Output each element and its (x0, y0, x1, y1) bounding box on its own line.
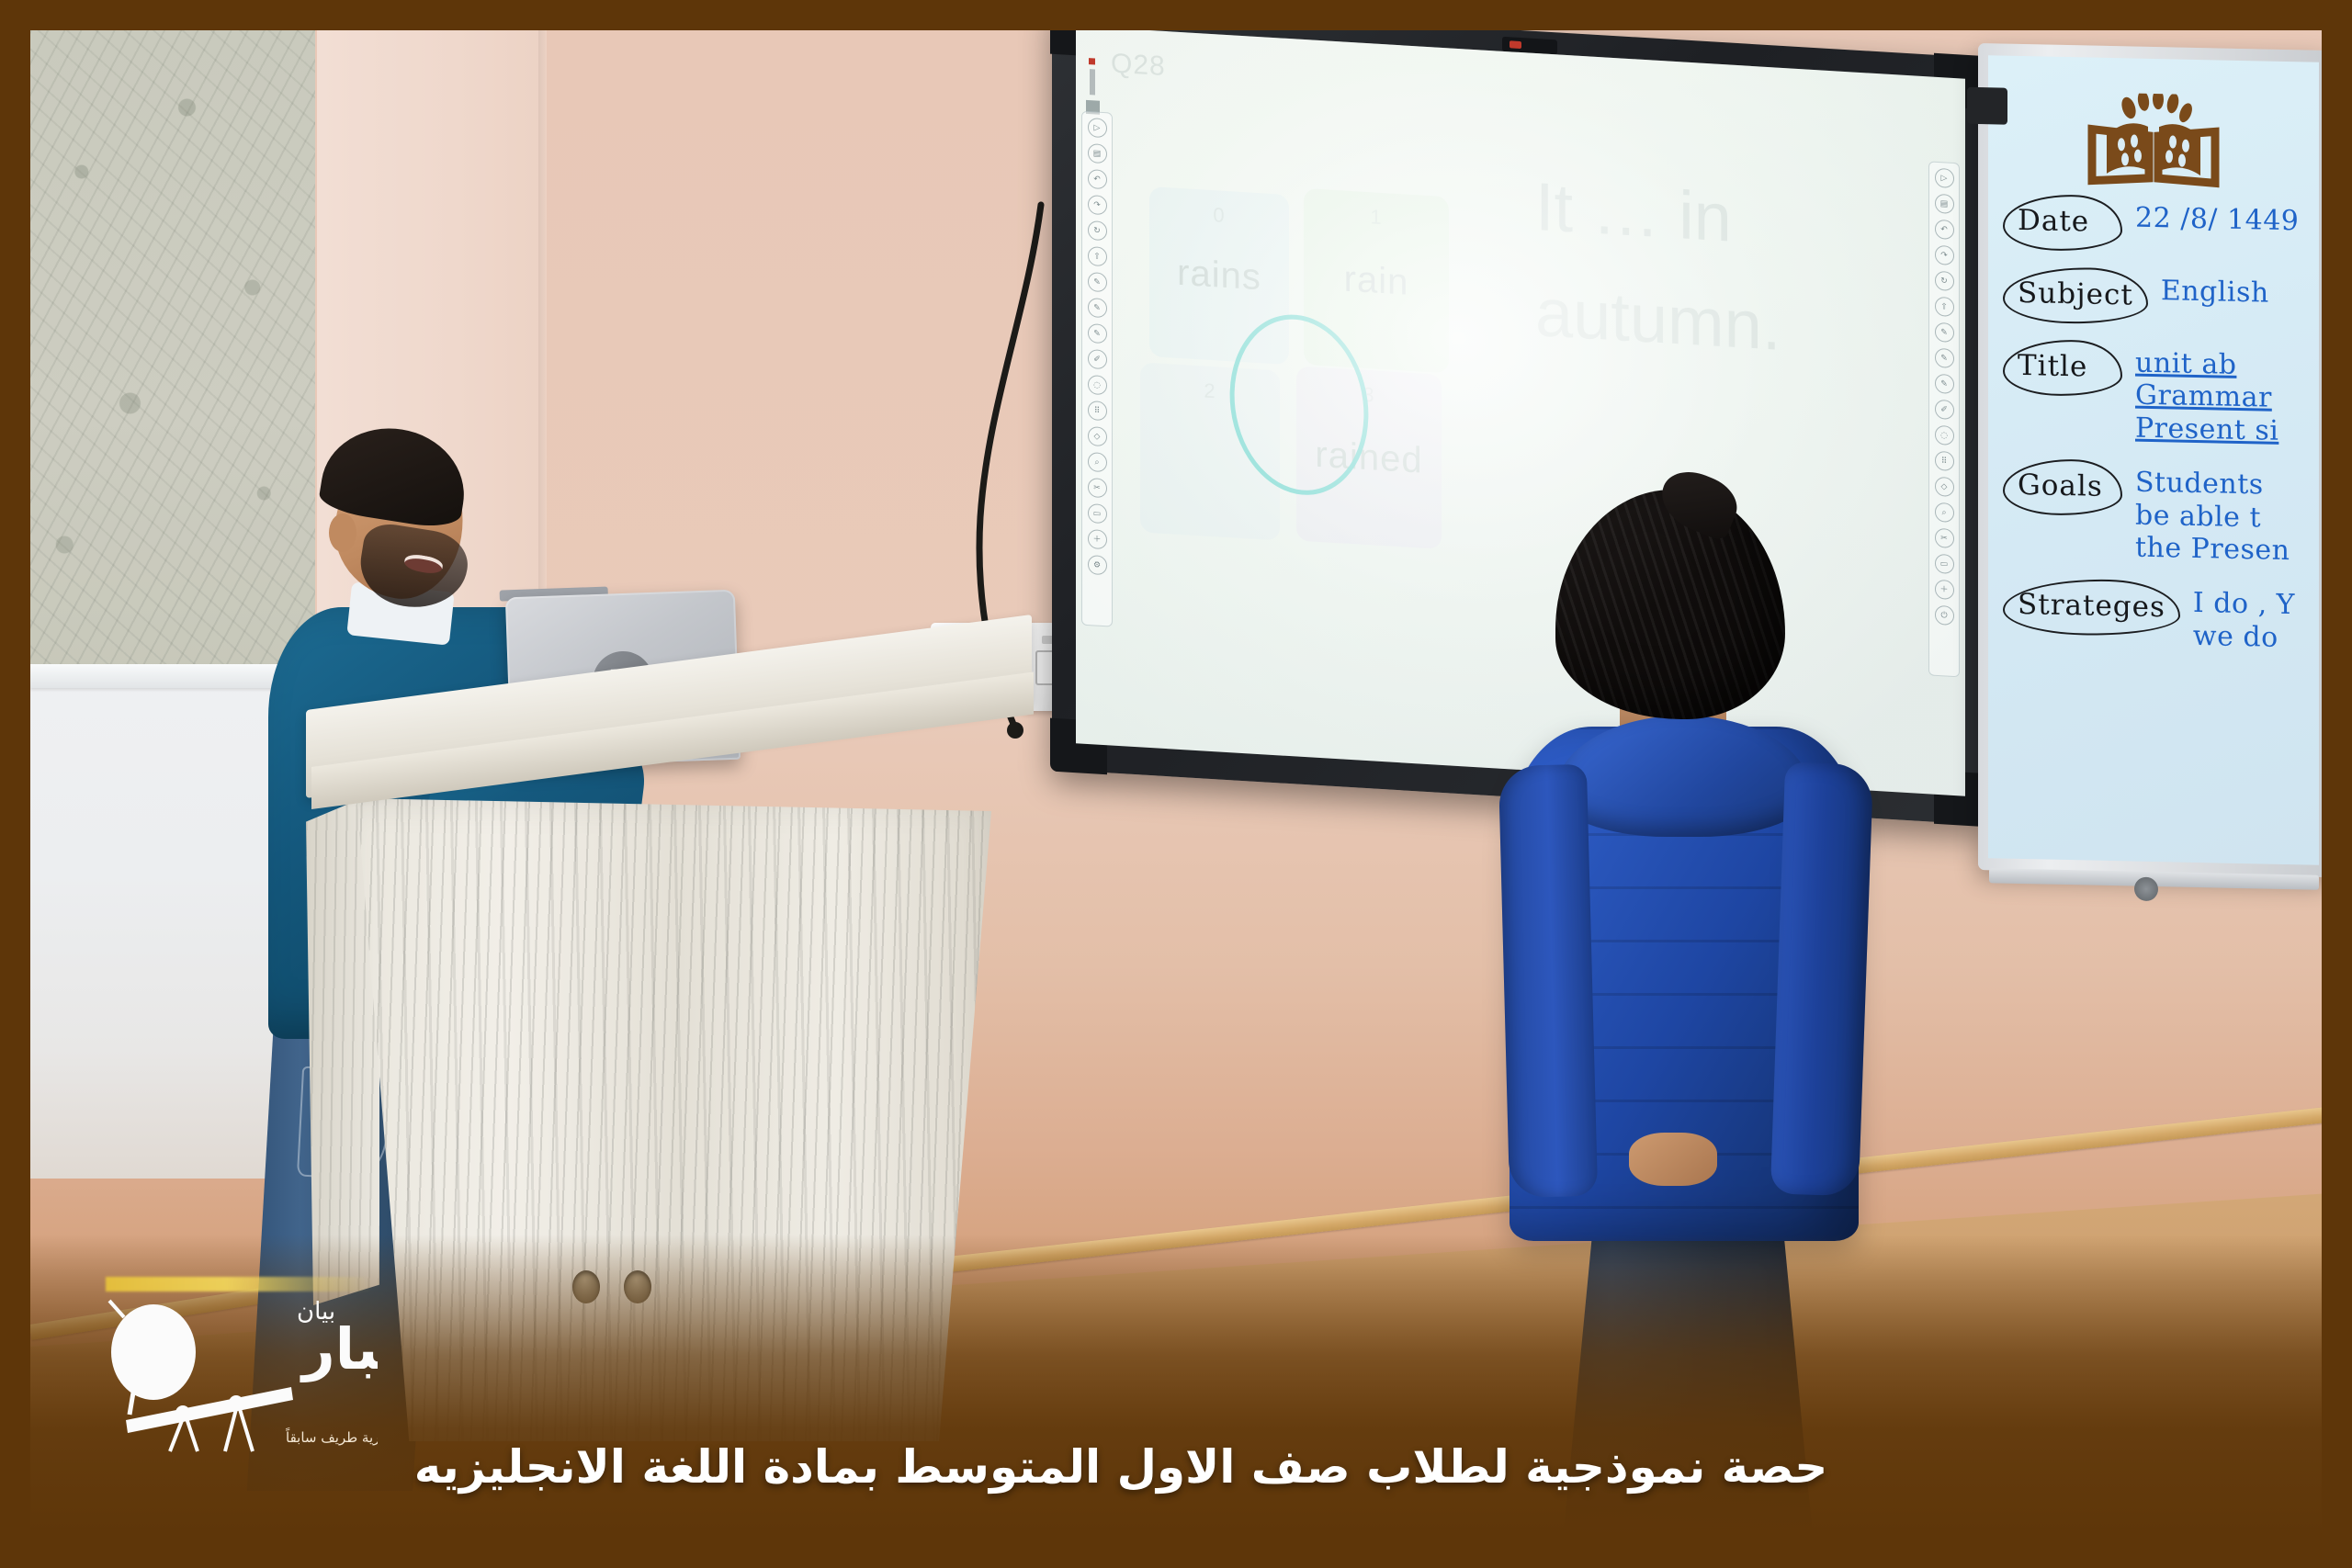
cut-icon[interactable]: ✂ (1088, 478, 1107, 498)
highlighter-icon[interactable]: ✐ (1088, 349, 1107, 369)
pen-thin-icon[interactable]: ✎ (1935, 348, 1954, 368)
whiteboard-clip (1967, 87, 2007, 125)
reload-icon[interactable]: ↻ (1935, 271, 1954, 291)
lesson-plan-value: I do , Y we do (2193, 581, 2295, 654)
lesson-plan-label: Goals (2003, 458, 2122, 517)
photo-frame: Q28 0 rains 1 rain 2 3 rained It … in au… (0, 0, 2352, 1568)
exercise-sentence: It … in autumn. (1535, 154, 1965, 390)
student-hands (1629, 1133, 1717, 1186)
zoom-icon[interactable]: ⌕ (1935, 502, 1954, 523)
podium-front-panel (337, 798, 991, 1441)
lesson-plan-row: Goals Students be able t the Presen (2003, 458, 2313, 568)
podium-cable-holes (572, 1270, 675, 1307)
lesson-plan-value: English (2161, 269, 2269, 310)
settings-icon[interactable]: ⚙ (1088, 555, 1107, 575)
lesson-plan-label: Strateges (2003, 578, 2180, 637)
eraser-icon[interactable]: ◌ (1935, 425, 1954, 446)
highlighter-icon[interactable]: ✐ (1935, 400, 1954, 420)
classroom-whiteboard: Date 22 /8/ 1449 Subject English Title u… (1978, 43, 2322, 877)
cut-icon[interactable]: ✂ (1935, 528, 1954, 548)
smartboard-toolbar-right[interactable]: ▷ ▤ ↶ ↷ ↻ ⇧ ✎ ✎ ✎ ✐ ◌ ⠿ ◇ ⌕ ✂ ▭ ＋ ⏻ (1928, 161, 1960, 677)
power-icon[interactable]: ⏻ (1935, 605, 1954, 626)
channel-logo: بيان الأخبار إخبارية طريف سابقاً (102, 1280, 378, 1455)
screen-edge-markers (1083, 58, 1111, 116)
student (1510, 490, 1859, 1463)
question-number: Q28 (1111, 49, 1166, 84)
student-hair (1555, 490, 1785, 719)
shapes-icon[interactable]: ◇ (1088, 426, 1107, 446)
add-icon[interactable]: ＋ (1935, 580, 1954, 600)
lesson-plan-row: Strateges I do , Y we do (2003, 578, 2313, 655)
lesson-plan-value: 22 /8/ 1449 (2135, 197, 2299, 238)
pen-thick-icon[interactable]: ✎ (1088, 323, 1107, 344)
photograph: Q28 0 rains 1 rain 2 3 rained It … in au… (30, 30, 2322, 1538)
teacher-ear (329, 513, 356, 552)
select-icon[interactable]: ⠿ (1088, 400, 1107, 421)
pen-thin-icon[interactable]: ✎ (1088, 298, 1107, 318)
lesson-plan-row: Date 22 /8/ 1449 (2003, 194, 2313, 256)
svg-text:الأخبار: الأخبار (300, 1314, 378, 1382)
reload-icon[interactable]: ↻ (1088, 220, 1107, 241)
shapes-icon[interactable]: ◇ (1935, 477, 1954, 497)
lesson-plan-list: Date 22 /8/ 1449 Subject English Title u… (2003, 194, 2313, 671)
wooden-podium (306, 710, 1032, 1445)
play-icon[interactable]: ▷ (1088, 118, 1107, 138)
caption-headline: حصة نموذجية لطلاب صف الاول المتوسط بمادة… (30, 1440, 2322, 1494)
answer-card-index: 1 (1370, 205, 1382, 230)
lesson-plan-row: Title unit ab Grammar Present si (2003, 339, 2313, 448)
keyboard-icon[interactable]: ▭ (1935, 554, 1954, 574)
eraser-icon[interactable]: ◌ (1088, 375, 1107, 395)
pointer-icon[interactable]: ⇧ (1088, 246, 1107, 266)
student-arm-left (1498, 764, 1598, 1198)
pen-thick-icon[interactable]: ✎ (1935, 374, 1954, 394)
answer-card-label: rains (1177, 253, 1261, 299)
lesson-plan-value: Students be able t the Presen (2135, 461, 2290, 568)
whiteboard-surface: Date 22 /8/ 1449 Subject English Title u… (1988, 55, 2319, 865)
keyboard-icon[interactable]: ▭ (1088, 503, 1107, 524)
lesson-plan-label: Date (2003, 194, 2122, 253)
redo-icon[interactable]: ↷ (1935, 245, 1954, 265)
select-icon[interactable]: ⠿ (1935, 451, 1954, 471)
answer-card-index: 0 (1213, 203, 1225, 228)
pointer-icon[interactable]: ⇧ (1935, 297, 1954, 317)
open-book-icon (2085, 92, 2222, 197)
save-icon[interactable]: ▤ (1088, 143, 1107, 164)
lesson-plan-row: Subject English (2003, 266, 2313, 329)
answer-card-index: 2 (1204, 379, 1216, 404)
smartboard-toolbar-left[interactable]: ▷ ▤ ↶ ↷ ↻ ⇧ ✎ ✎ ✎ ✐ ◌ ⠿ ◇ ⌕ ✂ ▭ ＋ ⚙ (1081, 111, 1113, 627)
pen-icon[interactable]: ✎ (1088, 272, 1107, 292)
lesson-plan-value: unit ab Grammar Present si (2135, 342, 2278, 447)
zoom-icon[interactable]: ⌕ (1088, 452, 1107, 472)
pen-icon[interactable]: ✎ (1935, 322, 1954, 343)
undo-icon[interactable]: ↶ (1935, 220, 1954, 240)
lesson-plan-label: Title (2003, 339, 2122, 398)
student-arm-right (1770, 761, 1873, 1196)
play-icon[interactable]: ▷ (1935, 168, 1954, 188)
answer-card-label: rain (1344, 258, 1409, 303)
add-icon[interactable]: ＋ (1088, 529, 1107, 549)
redo-icon[interactable]: ↷ (1088, 195, 1107, 215)
save-icon[interactable]: ▤ (1935, 194, 1954, 214)
lesson-plan-label: Subject (2003, 266, 2148, 325)
undo-icon[interactable]: ↶ (1088, 169, 1107, 189)
